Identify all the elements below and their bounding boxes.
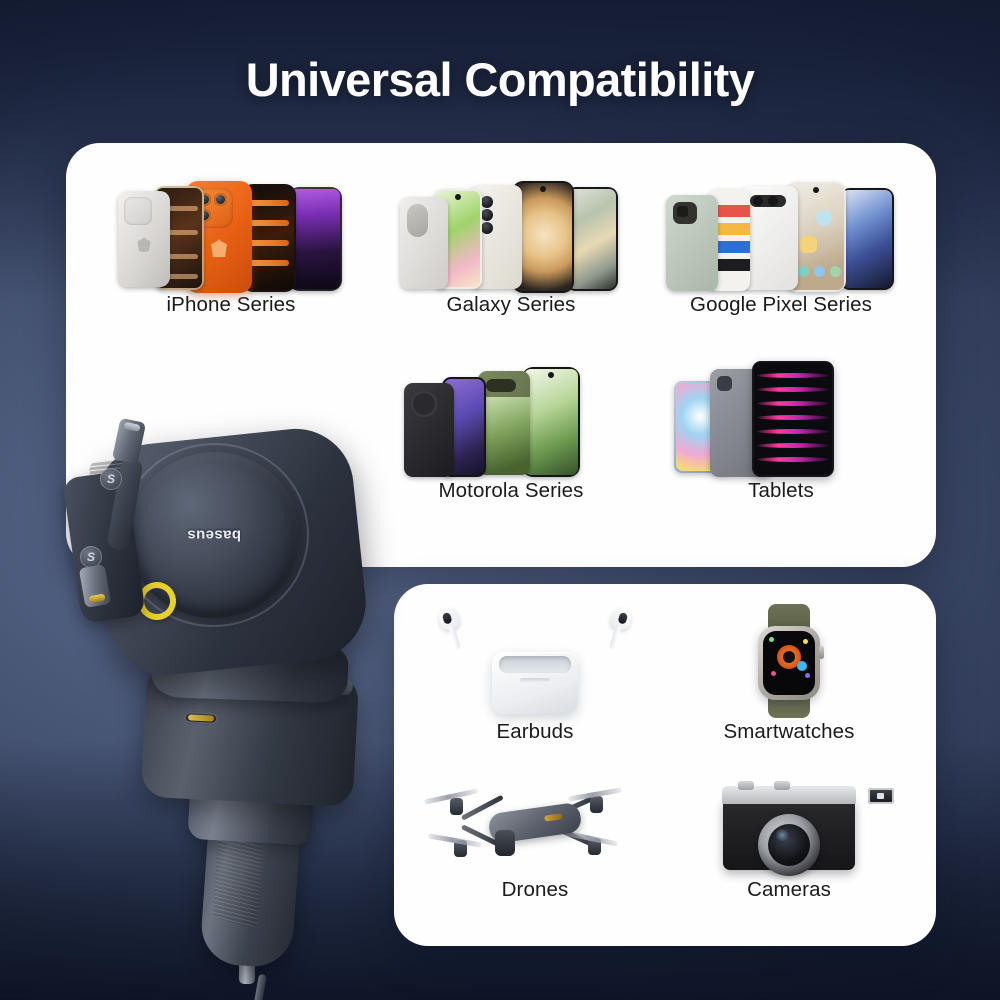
- compat-label-tablets: Tablets: [666, 479, 896, 503]
- galaxy-white-back: [400, 197, 448, 289]
- compat-item-iphone: iPhone Series: [106, 175, 356, 317]
- tablet-pro-magenta: [752, 361, 834, 477]
- compat-item-cameras: Cameras: [674, 774, 904, 902]
- pixel-white-back: [742, 186, 798, 290]
- baseus-badge-upper: [100, 468, 122, 490]
- accessories-compatibility-card: Earbuds Smartwatches: [394, 584, 936, 946]
- iphone-silver: [118, 191, 170, 287]
- compat-label-cameras: Cameras: [674, 878, 904, 902]
- compat-item-earbuds: Earbuds: [420, 602, 650, 744]
- watch-face: [763, 631, 815, 695]
- product-image-car-charger: baseus: [56, 418, 386, 1000]
- compat-label-earbuds: Earbuds: [420, 720, 650, 744]
- compat-item-pixel: Google Pixel Series: [656, 175, 906, 317]
- galaxy-cluster-icon: [386, 175, 636, 293]
- compat-item-drones: Drones: [420, 774, 650, 902]
- earbud-right: [604, 606, 633, 650]
- earbuds-icon: [420, 602, 650, 720]
- earbuds-charging-case: [492, 652, 578, 714]
- motorola-green-screen: [522, 367, 580, 477]
- usb-c-port-icon: [184, 711, 219, 725]
- page-title: Universal Compatibility: [0, 52, 1000, 107]
- compat-label-pixel: Google Pixel Series: [656, 293, 906, 317]
- compat-item-smartwatches: Smartwatches: [674, 602, 904, 744]
- earbud-left: [437, 606, 466, 650]
- compat-label-smartwatches: Smartwatches: [674, 720, 904, 744]
- camera-icon: [674, 774, 904, 878]
- compat-label-galaxy: Galaxy Series: [386, 293, 636, 317]
- motorola-black-back: [404, 383, 454, 477]
- compat-label-motorola: Motorola Series: [386, 479, 636, 503]
- compat-item-tablets: Tablets: [666, 351, 896, 503]
- pixel-fold-blue: [840, 188, 894, 290]
- drone-camera: [495, 830, 515, 856]
- brand-logo: baseus: [187, 527, 241, 544]
- compat-label-drones: Drones: [420, 878, 650, 902]
- camera-top-plate: [722, 786, 856, 804]
- pixel-cluster-icon: [656, 175, 906, 293]
- smartwatch-icon: [674, 602, 904, 720]
- compat-label-iphone: iPhone Series: [106, 293, 356, 317]
- camera-lens: [758, 814, 820, 876]
- iphone-cluster-icon: [106, 175, 356, 293]
- compat-item-galaxy: Galaxy Series: [386, 175, 636, 317]
- tablet-cluster-icon: [666, 351, 896, 479]
- drone-icon: [420, 774, 650, 878]
- pixel-sage-back: [666, 195, 718, 291]
- camera-viewfinder: [868, 788, 894, 804]
- watch-case: [758, 626, 820, 700]
- iphone-purple-screen: [288, 187, 342, 291]
- compat-item-motorola: Motorola Series: [386, 361, 636, 503]
- motorola-cluster-icon: [386, 361, 636, 479]
